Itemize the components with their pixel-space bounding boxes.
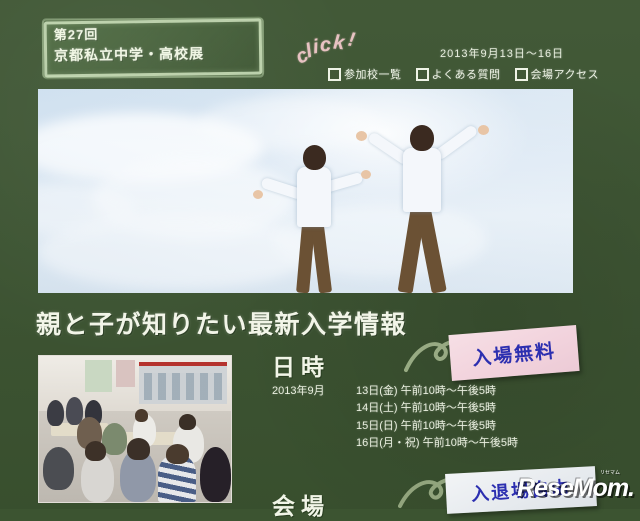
schedule-row: 13日(金) 午前10時～午後5時	[356, 383, 518, 399]
photo-poster	[85, 360, 112, 392]
fair-consultation-photo	[38, 355, 232, 503]
checkbox-icon	[515, 68, 528, 81]
photo-person-head	[127, 438, 150, 460]
student-head	[410, 125, 434, 151]
nav-item-label: 参加校一覧	[344, 66, 402, 82]
student-shirt	[403, 148, 441, 212]
photo-person-head	[179, 414, 196, 430]
section-heading-datetime: 日時	[272, 348, 330, 382]
schedule-rows: 13日(金) 午前10時～午後5時 14日(土) 午前10時～午後5時 15日(…	[356, 383, 518, 452]
click-letter: !	[346, 29, 358, 53]
watermark-ruby: リセマム	[600, 469, 620, 476]
photo-person	[43, 447, 74, 491]
schedule-row: 15日(日) 午前10時～午後5時	[356, 418, 518, 434]
student-hand	[356, 131, 367, 141]
student-leg	[416, 209, 447, 293]
photo-banner	[139, 362, 227, 404]
checkbox-icon	[328, 68, 341, 81]
photo-person-head	[135, 409, 148, 422]
nav-item-venue-access[interactable]: 会場アクセス	[515, 66, 599, 82]
schedule-year-month: 2013年9月	[272, 383, 352, 399]
student-head	[303, 145, 326, 170]
nav-item-label: 会場アクセス	[531, 66, 599, 82]
section-heading-venue: 会場	[272, 487, 330, 521]
student-hand	[478, 125, 489, 135]
photo-poster	[116, 360, 135, 386]
schedule-row: 16日(月・祝) 午前10時～午後5時	[356, 435, 518, 451]
page-title: 第27回 京都私立中学・高校展	[54, 24, 257, 66]
nav-item-label: よくある質問	[432, 66, 501, 82]
nav-item-participating-schools[interactable]: 参加校一覧	[328, 66, 402, 82]
photo-person-head	[85, 441, 106, 461]
student-figure-left	[273, 143, 357, 293]
hero-photo	[38, 89, 573, 293]
photo-person	[200, 447, 231, 502]
student-figure-right	[370, 125, 480, 293]
student-leg	[311, 224, 332, 293]
resemom-watermark: リセマム ReseMom.	[517, 474, 634, 503]
photo-person-head	[166, 444, 189, 464]
sticker-label: 入場無料	[471, 336, 557, 371]
page-root: 第27回 京都私立中学・高校展 click! 2013年9月13日～16日 参加…	[0, 0, 640, 509]
event-date-text: 2013年9月13日～16日	[440, 45, 564, 61]
sticker-free-admission: 入場無料	[448, 325, 579, 381]
checkbox-icon	[416, 68, 429, 81]
student-shirt	[297, 167, 331, 227]
photo-person	[47, 400, 64, 426]
main-headline: 親と子が知りたい最新入学情報	[36, 305, 407, 341]
click-label: click!	[292, 36, 355, 59]
title-line-2: 京都私立中学・高校展	[54, 42, 256, 65]
watermark-text: ReseMom.	[517, 474, 634, 502]
header-nav: 参加校一覧 よくある質問 会場アクセス	[328, 66, 599, 82]
click-letter: k	[333, 32, 348, 56]
schedule-row: 14日(土) 午前10時～午後5時	[356, 400, 518, 416]
nav-item-faq[interactable]: よくある質問	[416, 66, 501, 82]
event-title-plate: 第27回 京都私立中学・高校展	[44, 18, 263, 77]
photo-person	[102, 423, 127, 455]
